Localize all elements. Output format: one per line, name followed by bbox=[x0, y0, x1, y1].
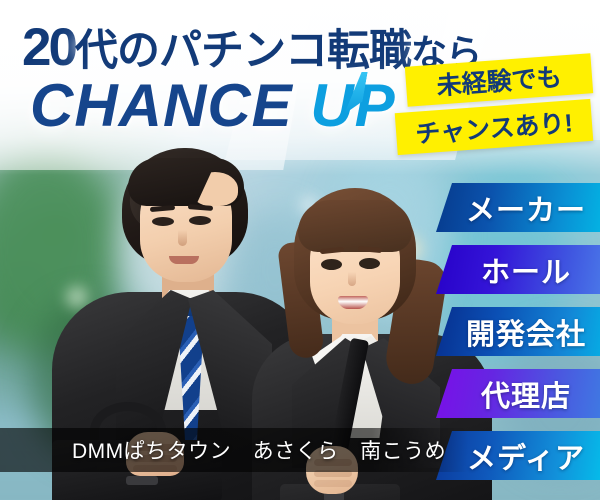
category-label-developer: 開発会社 bbox=[436, 311, 600, 353]
man-nose bbox=[178, 230, 187, 246]
chance-up-logo: CHANCE UP bbox=[30, 76, 396, 136]
category-button-maker[interactable]: メーカー bbox=[436, 183, 600, 232]
woman-nose bbox=[348, 272, 356, 286]
category-button-developer[interactable]: 開発会社 bbox=[436, 307, 600, 356]
category-button-agency[interactable]: 代理店 bbox=[436, 369, 600, 418]
man-mouth bbox=[169, 256, 199, 264]
category-label-maker: メーカー bbox=[436, 187, 600, 229]
woman-mouth bbox=[338, 296, 368, 309]
woman-hair-fringe bbox=[298, 200, 412, 252]
man-hair-fringe bbox=[128, 158, 244, 206]
man-eye-left bbox=[152, 217, 174, 226]
headline-number: 20 bbox=[22, 18, 75, 77]
logo-up-wrapper: UP bbox=[310, 76, 395, 136]
headline-body: 代のパチンコ転職 bbox=[75, 27, 411, 75]
badge-line-1: 未経験でも bbox=[405, 53, 593, 107]
chance-up-banner: 20代のパチンコ転職なら CHANCE UP 未経験でも チャンスあり! メーカ… bbox=[0, 0, 600, 500]
woman-eye-right bbox=[359, 258, 380, 269]
man-briefcase-clasp bbox=[126, 476, 158, 485]
category-label-agency: 代理店 bbox=[436, 373, 600, 415]
category-label-hall: ホール bbox=[436, 249, 600, 291]
badge-line-2: チャンスあり! bbox=[395, 99, 594, 155]
caption-text: DMMぱちタウン あさくら 南こうめ bbox=[72, 435, 446, 465]
category-button-hall[interactable]: ホール bbox=[436, 245, 600, 294]
experience-badge: 未経験でも チャンスあり! bbox=[396, 56, 596, 156]
man-eye-right bbox=[189, 216, 211, 225]
logo-chance-text: CHANCE bbox=[30, 72, 293, 139]
woman-eye-left bbox=[321, 259, 342, 270]
caption-bar: DMMぱちタウン あさくら 南こうめ bbox=[0, 428, 600, 472]
